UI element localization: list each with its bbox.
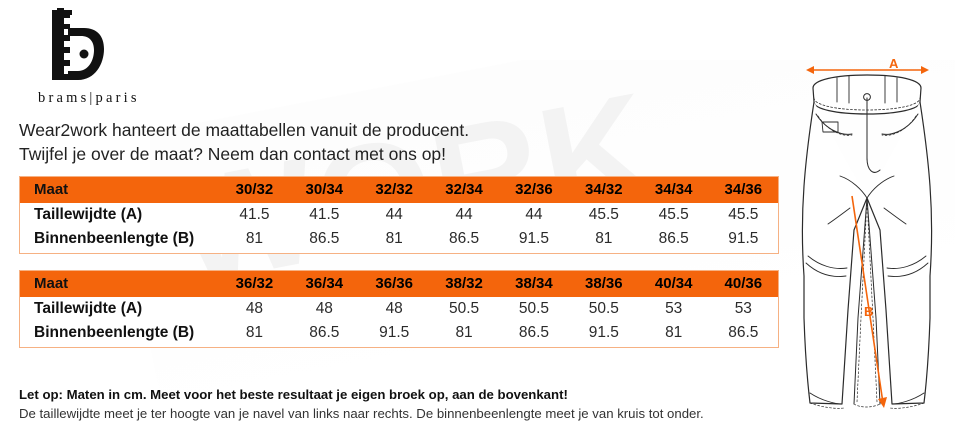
row-label: Binnenbeenlengte (B) — [20, 227, 220, 254]
cell-value: 91.5 — [709, 227, 779, 254]
cell-value: 45.5 — [709, 203, 779, 227]
column-header-size: 30/34 — [289, 177, 359, 204]
intro-text: Wear2work hanteert de maattabellen vanui… — [19, 118, 719, 166]
cell-value: 81 — [429, 321, 499, 348]
column-header-size: 38/32 — [429, 271, 499, 298]
row-label: Binnenbeenlengte (B) — [20, 321, 220, 348]
column-header-size: 32/34 — [429, 177, 499, 204]
cell-value: 50.5 — [499, 297, 569, 321]
column-header-size: 40/36 — [709, 271, 779, 298]
column-header-size: 32/32 — [359, 177, 429, 204]
column-header-size: 36/36 — [359, 271, 429, 298]
size-chart-page: WORK brams|paris Wear2w — [0, 0, 955, 445]
table-header-row: Maat 30/32 30/34 32/32 32/34 32/36 34/32… — [20, 177, 779, 204]
column-header-size: 34/34 — [639, 177, 709, 204]
cell-value: 44 — [499, 203, 569, 227]
cell-value: 81 — [220, 227, 290, 254]
cell-value: 81 — [569, 227, 639, 254]
trousers-measurement-diagram: A B — [780, 18, 955, 438]
brams-paris-b-logo-icon — [40, 8, 112, 88]
column-header-size: 36/34 — [289, 271, 359, 298]
cell-value: 50.5 — [429, 297, 499, 321]
cell-value: 86.5 — [289, 227, 359, 254]
cell-value: 86.5 — [709, 321, 779, 348]
column-header-size: 34/36 — [709, 177, 779, 204]
cell-value: 44 — [359, 203, 429, 227]
column-header-size: 32/36 — [499, 177, 569, 204]
cell-value: 81 — [220, 321, 290, 348]
content-column: brams|paris Wear2work hanteert de maatta… — [0, 0, 790, 445]
cell-value: 86.5 — [499, 321, 569, 348]
size-table-2: Maat 36/32 36/34 36/36 38/32 38/34 38/36… — [19, 270, 779, 348]
cell-value: 41.5 — [220, 203, 290, 227]
footer-bold-note: Let op: Maten in cm. Meet voor het beste… — [19, 386, 779, 404]
cell-value: 86.5 — [429, 227, 499, 254]
cell-value: 44 — [429, 203, 499, 227]
row-label: Taillewijdte (A) — [20, 297, 220, 321]
column-header-maat: Maat — [20, 177, 220, 204]
size-table-1: Maat 30/32 30/34 32/32 32/34 32/36 34/32… — [19, 176, 779, 254]
table-header-row: Maat 36/32 36/34 36/36 38/32 38/34 38/36… — [20, 271, 779, 298]
brand-logo: brams|paris — [38, 8, 268, 107]
column-header-size: 34/32 — [569, 177, 639, 204]
cell-value: 41.5 — [289, 203, 359, 227]
cell-value: 86.5 — [289, 321, 359, 348]
measure-label-a: A — [889, 56, 898, 71]
intro-line-1: Wear2work hanteert de maattabellen vanui… — [19, 118, 719, 142]
cell-value: 91.5 — [359, 321, 429, 348]
column-header-size: 38/34 — [499, 271, 569, 298]
footer-detail-note: De taillewijdte meet je ter hoogte van j… — [19, 404, 779, 423]
column-header-size: 38/36 — [569, 271, 639, 298]
cell-value: 45.5 — [569, 203, 639, 227]
row-label: Taillewijdte (A) — [20, 203, 220, 227]
column-header-maat: Maat — [20, 271, 220, 298]
cell-value: 48 — [359, 297, 429, 321]
column-header-size: 40/34 — [639, 271, 709, 298]
cell-value: 48 — [220, 297, 290, 321]
cell-value: 45.5 — [639, 203, 709, 227]
measure-label-b: B — [864, 304, 873, 319]
table-row: Binnenbeenlengte (B) 81 86.5 91.5 81 86.… — [20, 321, 779, 348]
cell-value: 81 — [359, 227, 429, 254]
cell-value: 53 — [709, 297, 779, 321]
cell-value: 81 — [639, 321, 709, 348]
cell-value: 53 — [639, 297, 709, 321]
table-row: Taillewijdte (A) 48 48 48 50.5 50.5 50.5… — [20, 297, 779, 321]
cell-value: 86.5 — [639, 227, 709, 254]
cell-value: 50.5 — [569, 297, 639, 321]
brand-wordmark: brams|paris — [38, 90, 268, 107]
cell-value: 48 — [289, 297, 359, 321]
column-header-size: 36/32 — [220, 271, 290, 298]
intro-line-2: Twijfel je over de maat? Neem dan contac… — [19, 142, 719, 166]
trousers-illustration-icon — [780, 18, 955, 438]
cell-value: 91.5 — [499, 227, 569, 254]
cell-value: 91.5 — [569, 321, 639, 348]
table-row: Taillewijdte (A) 41.5 41.5 44 44 44 45.5… — [20, 203, 779, 227]
table-row: Binnenbeenlengte (B) 81 86.5 81 86.5 91.… — [20, 227, 779, 254]
footer-notes: Let op: Maten in cm. Meet voor het beste… — [19, 386, 779, 423]
column-header-size: 30/32 — [220, 177, 290, 204]
